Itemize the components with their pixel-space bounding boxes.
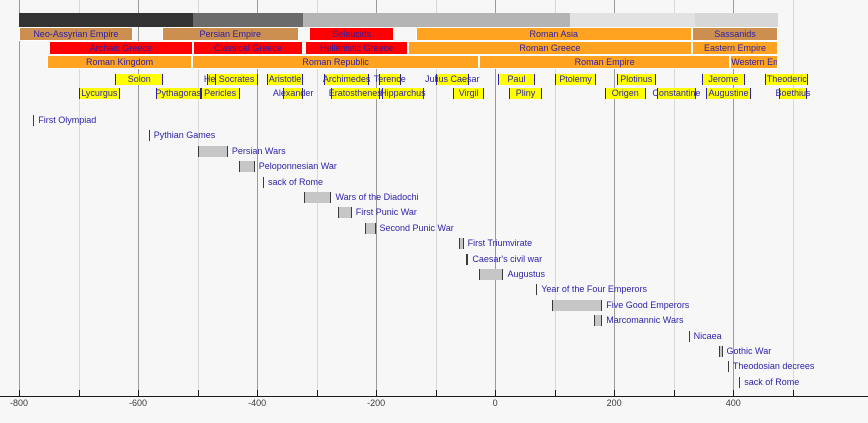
axis-tick — [614, 390, 615, 396]
eastern-empires-band-segment: Roman Asia — [416, 27, 692, 41]
person-label: Paul — [508, 73, 526, 85]
event-bar — [33, 115, 34, 126]
event-label: Pythian Games — [154, 130, 216, 141]
person-label: Eratosthenes — [329, 87, 382, 99]
event-bar — [739, 377, 740, 388]
event-bar — [239, 161, 255, 172]
event-label: Second Punic War — [380, 223, 454, 234]
periods-band-segment — [570, 13, 695, 27]
band-label: Roman Asia — [417, 29, 691, 39]
event-label: Theodosian decrees — [733, 361, 815, 372]
person-label: Pliny — [516, 87, 536, 99]
axis-tick-label: -400 — [248, 398, 266, 408]
event-label: Peloponnesian War — [259, 161, 337, 172]
band-label: Eastern Empire — [693, 43, 778, 53]
person-row-2-item: Boethius — [779, 88, 807, 99]
band-label: Hellenistic Greece — [306, 43, 408, 53]
axis-tick — [555, 390, 556, 396]
event-bar — [719, 346, 723, 357]
timeline-chart: Neo-Assyrian EmpirePersian EmpireSeleuci… — [0, 0, 868, 423]
axis-tick — [376, 390, 377, 396]
event-bar — [728, 361, 729, 372]
band-label: Neo-Assyrian Empire — [20, 29, 132, 39]
band-label: Roman Republic — [193, 57, 478, 67]
event-label: First Olympiad — [38, 115, 96, 126]
person-label: Hipparchus — [380, 87, 426, 99]
event-label: First Triumvirate — [468, 238, 533, 249]
axis-tick-label: -800 — [10, 398, 28, 408]
axis-tick-label: 400 — [726, 398, 741, 408]
axis-tick — [257, 390, 258, 396]
person-label: Augustine — [708, 87, 748, 99]
band-label: Seleucids — [310, 29, 393, 39]
event-label: Wars of the Diadochi — [335, 192, 418, 203]
event-label: Augustus — [507, 269, 545, 280]
greece-band-segment: Eastern Empire — [692, 41, 779, 55]
axis-tick — [198, 390, 199, 396]
axis-tick — [793, 390, 794, 396]
person-label: Socrates — [219, 73, 255, 85]
person-label: Ptolemy — [559, 73, 592, 85]
axis-tick — [19, 390, 20, 396]
person-row-2-item: Origen — [605, 88, 646, 99]
person-label: Constantine — [652, 87, 700, 99]
person-row-2-item: Constantine — [657, 88, 696, 99]
person-label: Solon — [128, 73, 151, 85]
person-label: Virgil — [459, 87, 479, 99]
event-label: Marcomannic Wars — [606, 315, 683, 326]
gridline — [793, 0, 794, 396]
person-row-2-item: Eratosthenes — [331, 88, 380, 99]
event-bar — [459, 238, 463, 249]
axis-tick-label: 200 — [607, 398, 622, 408]
axis-tick — [733, 390, 734, 396]
axis-tick — [674, 390, 675, 396]
event-label: Five Good Emperors — [606, 300, 689, 311]
person-row-1-item: Aristotle — [267, 74, 304, 85]
person-label: Lycurgus — [81, 87, 117, 99]
axis-tick — [317, 390, 318, 396]
person-row-1-item: Socrates — [215, 74, 257, 85]
event-bar — [689, 331, 690, 342]
person-label: Origen — [612, 87, 639, 99]
event-bar — [479, 269, 503, 280]
person-label: Pericles — [204, 87, 236, 99]
gridline — [19, 0, 20, 396]
eastern-empires-band-segment: Persian Empire — [162, 27, 299, 41]
person-row-1-item: Plotinus — [617, 74, 656, 85]
person-row-1-item: Archimedes — [324, 74, 369, 85]
person-label: Theoderic — [767, 73, 807, 85]
person-row-2-item: Pliny — [509, 88, 542, 99]
person-row-2-item: Augustine — [706, 88, 751, 99]
band-label: Archaic Greece — [50, 43, 192, 53]
person-label: Alexander — [273, 87, 314, 99]
event-label: sack of Rome — [268, 177, 323, 188]
event-bar — [304, 192, 332, 203]
periods-band-segment — [193, 13, 303, 27]
person-label: Aristotle — [269, 73, 302, 85]
person-label: Boethius — [776, 87, 811, 99]
band-label: Classical Greece — [194, 43, 302, 53]
axis-tick — [79, 390, 80, 396]
band-label: Roman Empire — [480, 57, 729, 67]
event-bar — [198, 146, 228, 157]
axis-tick-label: 0 — [493, 398, 498, 408]
person-row-2-item: Pythagoras — [156, 88, 201, 99]
band-label: Western Empire — [731, 57, 777, 67]
eastern-empires-band-segment: Sassanids — [692, 27, 779, 41]
rome-band-segment: Roman Republic — [192, 55, 479, 69]
rome-band-segment: Western Empire — [730, 55, 778, 69]
person-row-1-item: Terence — [379, 74, 400, 85]
eastern-empires-band-segment: Seleucids — [309, 27, 394, 41]
person-row-2-item: Virgil — [453, 88, 483, 99]
person-row-1-item: Ptolemy — [555, 74, 597, 85]
event-label: Gothic War — [727, 346, 772, 357]
greece-band-segment: Archaic Greece — [49, 41, 193, 55]
axis-tick — [138, 390, 139, 396]
event-label: Nicaea — [694, 331, 722, 342]
person-row-1-item: Paul — [498, 74, 535, 85]
person-label: Pythagoras — [155, 87, 201, 99]
person-label: Terence — [374, 73, 406, 85]
event-label: sack of Rome — [744, 377, 799, 388]
band-label: Roman Kingdom — [48, 57, 191, 67]
person-label: Julius Caesar — [425, 73, 480, 85]
axis-tick-label: -600 — [129, 398, 147, 408]
person-row-2-item: Lycurgus — [79, 88, 121, 99]
person-row-2-item: Pericles — [201, 88, 240, 99]
person-row-1-item: Jerome — [702, 74, 745, 85]
axis-tick — [436, 390, 437, 396]
rome-band-segment: Roman Empire — [479, 55, 730, 69]
eastern-empires-band-segment: Neo-Assyrian Empire — [19, 27, 133, 41]
greece-band-segment: Hellenistic Greece — [305, 41, 409, 55]
event-label: Year of the Four Emperors — [541, 284, 647, 295]
person-row-1-item: Solon — [115, 74, 163, 85]
event-label: Persian Wars — [232, 146, 286, 157]
event-bar — [149, 130, 150, 141]
event-bar — [263, 177, 264, 188]
periods-band-segment — [695, 13, 779, 27]
band-label: Sassanids — [693, 29, 778, 39]
event-bar — [466, 254, 468, 265]
event-label: First Punic War — [356, 207, 417, 218]
person-row-1-item: Theoderic — [765, 74, 808, 85]
x-axis-line — [0, 396, 868, 397]
greece-band-segment: Roman Greece — [408, 41, 691, 55]
person-row-2-item: Alexander — [283, 88, 303, 99]
axis-tick — [495, 390, 496, 396]
band-label: Roman Greece — [409, 43, 690, 53]
event-bar — [365, 223, 375, 234]
band-label: Persian Empire — [163, 29, 298, 39]
rome-band-segment: Roman Kingdom — [47, 55, 192, 69]
plot-area: Neo-Assyrian EmpirePersian EmpireSeleuci… — [0, 0, 868, 396]
person-row-1-item: Julius Caesar — [436, 74, 469, 85]
event-bar — [338, 207, 352, 218]
event-bar — [552, 300, 602, 311]
person-label: Archimedes — [323, 73, 371, 85]
person-label: Plotinus — [620, 73, 652, 85]
event-bar — [594, 315, 602, 326]
axis-tick-label: -200 — [367, 398, 385, 408]
person-label: Jerome — [708, 73, 738, 85]
person-row-2-item: Hipparchus — [382, 88, 424, 99]
periods-band-segment — [19, 13, 193, 27]
greece-band-segment: Classical Greece — [193, 41, 303, 55]
event-bar — [536, 284, 537, 295]
event-label: Caesar's civil war — [472, 254, 542, 265]
periods-band-segment — [303, 13, 570, 27]
